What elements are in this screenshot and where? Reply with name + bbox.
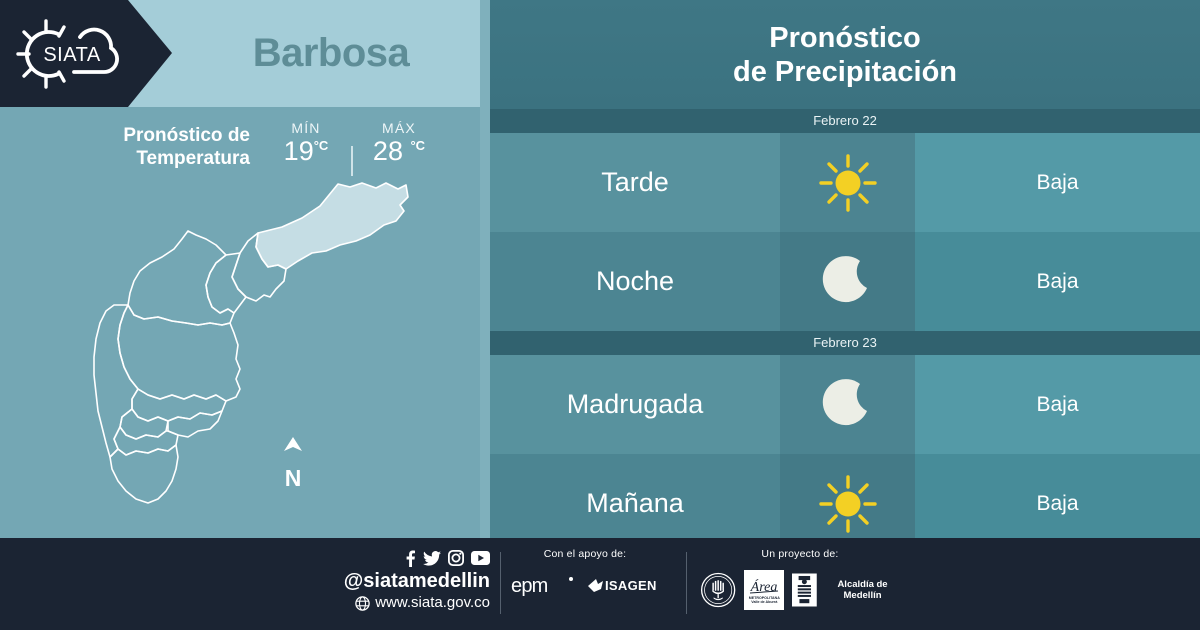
footer-divider-2 bbox=[686, 552, 687, 614]
temperature-max-unit: °C bbox=[410, 138, 425, 153]
social-handle[interactable]: @siatamedellin bbox=[330, 569, 490, 593]
isagen-logo: ISAGEN bbox=[586, 576, 660, 594]
social-block: @siatamedellin www.siata.gov.co bbox=[330, 548, 490, 613]
infographic-root: SIATA Barbosa Pronóstico de Temperatura … bbox=[0, 0, 1200, 630]
forecast-title: Pronóstico de Precipitación bbox=[490, 0, 1200, 109]
temperature-title-line1: Pronóstico de bbox=[60, 124, 250, 147]
siata-logo-text: SIATA bbox=[43, 44, 100, 66]
area-sub2: Valle de Aburrá bbox=[751, 600, 777, 604]
instagram-icon[interactable] bbox=[448, 550, 464, 566]
temperature-divider bbox=[351, 146, 353, 176]
precipitation-panel: Pronóstico de Precipitación Febrero 22 T… bbox=[490, 0, 1200, 538]
north-letter: N bbox=[275, 467, 311, 489]
support-block: Con el apoyo de: epm ISAGEN bbox=[505, 548, 665, 596]
forecast-level-label: Baja bbox=[915, 232, 1200, 331]
support-logos: epm ISAGEN bbox=[505, 574, 665, 596]
moon-icon bbox=[780, 232, 915, 331]
map-area: Pronóstico de Temperatura MÍN 19°C MÁX 2… bbox=[0, 107, 490, 538]
temperature-title-line2: Temperatura bbox=[60, 147, 250, 170]
city-name: Barbosa bbox=[172, 0, 490, 107]
forecast-period-label: Tarde bbox=[490, 133, 780, 232]
temperature-min-unit: °C bbox=[314, 138, 329, 153]
sun-icon bbox=[780, 133, 915, 232]
date-band-2: Febrero 23 bbox=[490, 331, 1200, 355]
forecast-row-noche: Noche Baja bbox=[490, 232, 1200, 331]
forecast-title-line1: Pronóstico bbox=[769, 21, 920, 55]
youtube-icon[interactable] bbox=[471, 551, 490, 565]
temperature-min-label: MÍN bbox=[270, 120, 342, 136]
forecast-period-label: Noche bbox=[490, 232, 780, 331]
aburra-valley-map bbox=[40, 173, 440, 523]
social-icons bbox=[330, 548, 490, 568]
city-banner: SIATA Barbosa bbox=[0, 0, 490, 107]
temperature-min: MÍN 19°C bbox=[270, 120, 342, 167]
date-band-1: Febrero 22 bbox=[490, 109, 1200, 133]
twitter-icon[interactable] bbox=[423, 551, 441, 566]
area-script-text: Área bbox=[744, 576, 784, 596]
udea-seal-icon bbox=[700, 568, 736, 612]
social-website-text: www.siata.gov.co bbox=[375, 593, 490, 613]
project-caption: Un proyecto de: bbox=[700, 548, 900, 560]
area-metropolitana-logo: Área METROPOLITANA Valle de Aburrá bbox=[744, 570, 784, 610]
support-caption: Con el apoyo de: bbox=[505, 548, 665, 560]
forecast-level-label: Baja bbox=[915, 355, 1200, 454]
moon-icon bbox=[780, 355, 915, 454]
north-arrow-icon bbox=[281, 437, 305, 453]
temperature-max-value-wrap: 28 °C bbox=[360, 136, 438, 167]
temperature-max-label: MÁX bbox=[360, 120, 438, 136]
forecast-row-tarde: Tarde Baja bbox=[490, 133, 1200, 232]
map-region-barbosa bbox=[256, 183, 408, 269]
social-website[interactable]: www.siata.gov.co bbox=[330, 593, 490, 613]
project-logos: Área METROPOLITANA Valle de Aburrá bbox=[700, 568, 900, 612]
temperature-max: MÁX 28 °C bbox=[360, 120, 438, 167]
left-panel: SIATA Barbosa Pronóstico de Temperatura … bbox=[0, 0, 490, 538]
forecast-level-label: Baja bbox=[915, 133, 1200, 232]
area-sublabel: METROPOLITANA Valle de Aburrá bbox=[749, 596, 780, 605]
alcaldia-medellin-crest-icon bbox=[792, 570, 817, 610]
temperature-title: Pronóstico de Temperatura bbox=[60, 124, 250, 170]
sun-cloud-icon: SIATA bbox=[12, 12, 132, 96]
facebook-icon[interactable] bbox=[405, 550, 416, 567]
svg-text:ISAGEN: ISAGEN bbox=[605, 578, 657, 593]
footer-divider-1 bbox=[500, 552, 501, 614]
epm-logo: epm bbox=[511, 574, 577, 596]
temperature-max-value: 28 bbox=[373, 136, 403, 166]
north-indicator: N bbox=[275, 437, 311, 483]
footer: @siatamedellin www.siata.gov.co Con el a… bbox=[0, 538, 1200, 630]
forecast-period-label: Madrugada bbox=[490, 355, 780, 454]
alcaldia-label: Alcaldía de Medellín bbox=[825, 579, 900, 601]
siata-logo-flag: SIATA bbox=[0, 0, 172, 107]
globe-icon bbox=[355, 596, 370, 611]
panel-divider-strip bbox=[480, 0, 490, 538]
forecast-title-line2: de Precipitación bbox=[733, 55, 957, 89]
temperature-min-value-wrap: 19°C bbox=[270, 136, 342, 167]
temperature-min-value: 19 bbox=[284, 136, 314, 166]
forecast-row-madrugada: Madrugada Baja bbox=[490, 355, 1200, 454]
area-sub1: METROPOLITANA bbox=[749, 596, 780, 600]
project-block: Un proyecto de: bbox=[700, 548, 900, 612]
svg-text:epm: epm bbox=[511, 575, 548, 596]
